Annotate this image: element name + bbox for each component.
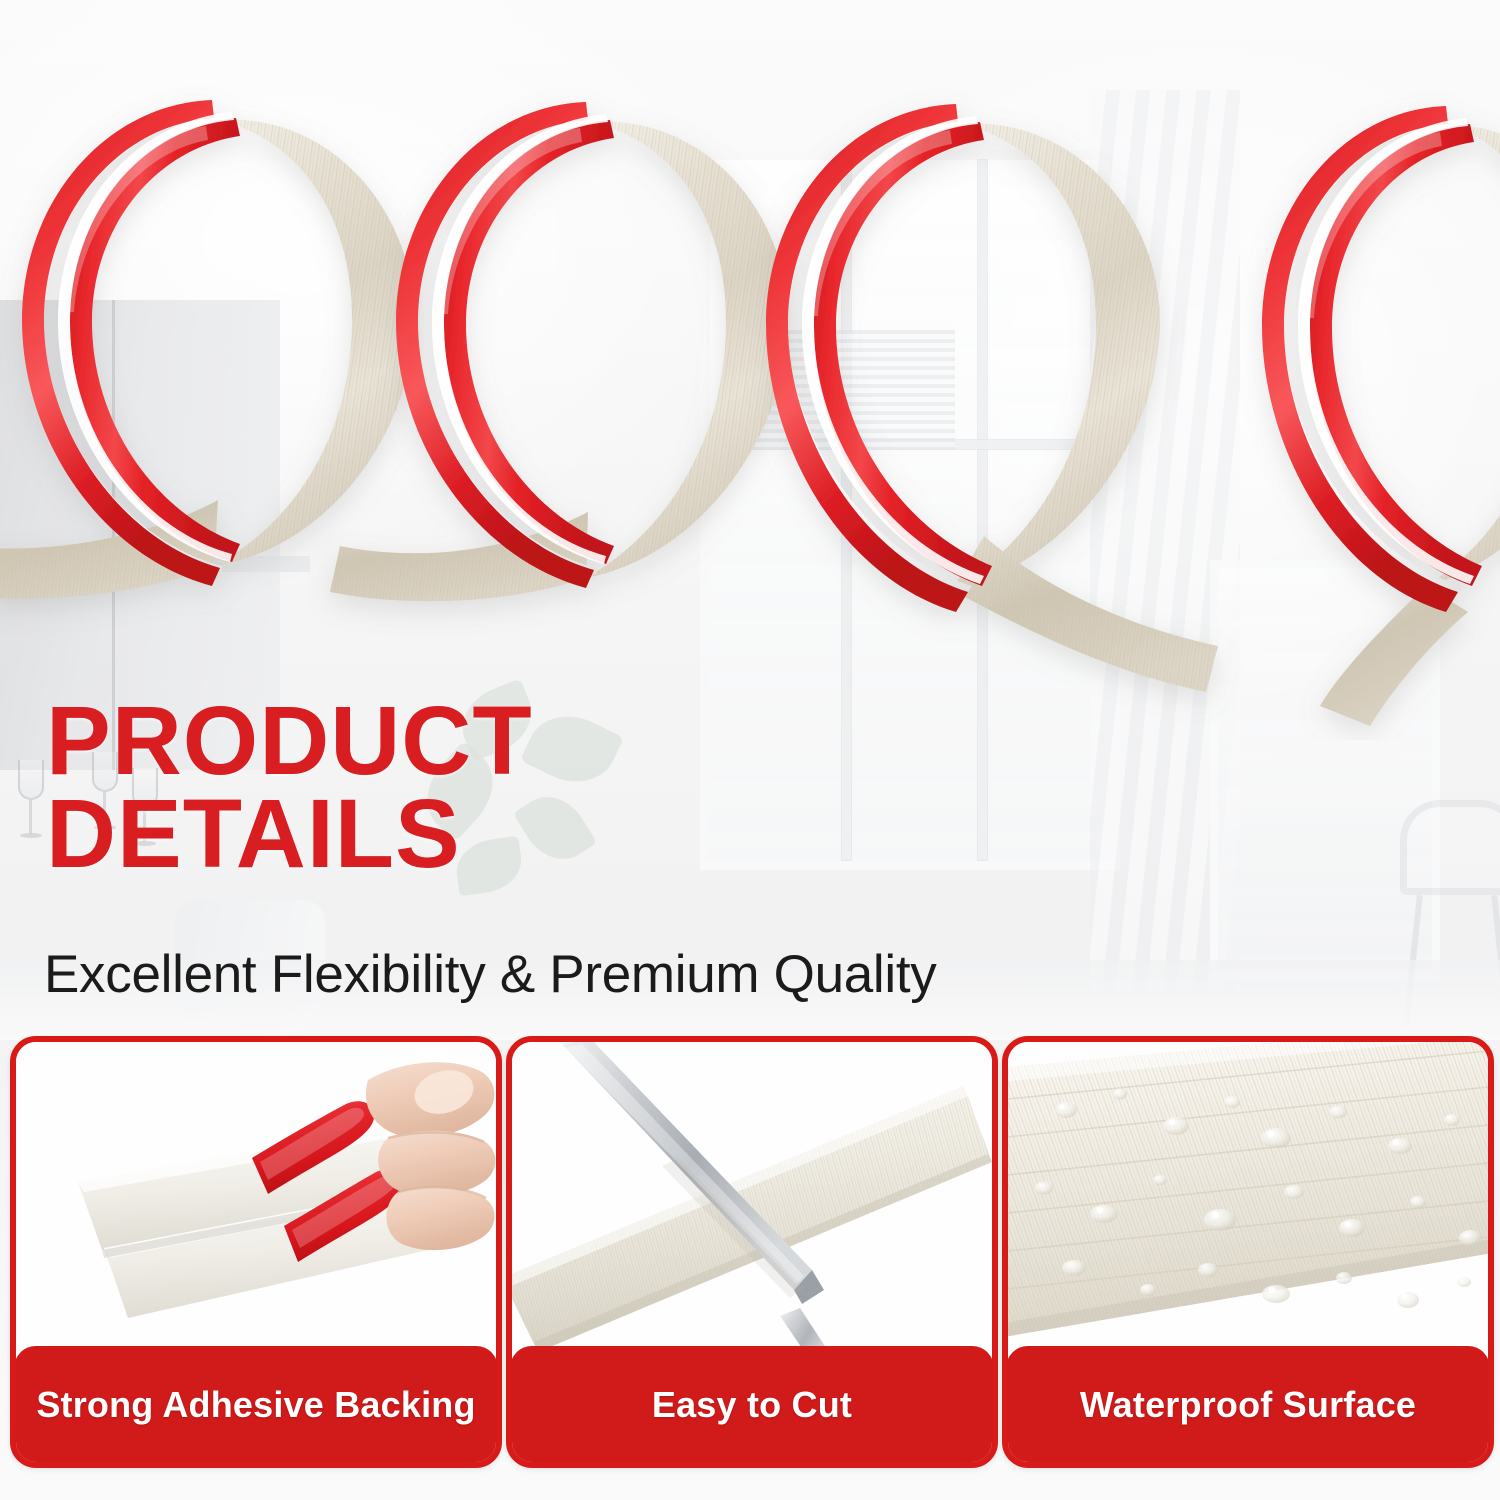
scissors-cutting-banding-image: [512, 1042, 992, 1360]
coil-4: [1262, 106, 1500, 726]
panel-caption-adhesive: Strong Adhesive Backing: [14, 1346, 498, 1464]
coil-1: [0, 100, 414, 599]
coil-3: [766, 104, 1218, 692]
coil-2: [330, 102, 788, 601]
page-subtitle: Excellent Flexibility & Premium Quality: [44, 944, 937, 1005]
headline-line-2: DETAILS: [46, 787, 946, 880]
product-detail-image: PRODUCT DETAILS Excellent Flexibility & …: [0, 0, 1500, 1500]
water-droplets-on-banding-image: [1008, 1042, 1488, 1360]
hero-product-coils: [0, 0, 1500, 740]
hand-peeling-red-adhesive-liner-image: [16, 1042, 496, 1360]
feature-panel-cut[interactable]: Easy to Cut: [506, 1036, 998, 1468]
page-title: PRODUCT DETAILS: [46, 694, 946, 880]
panel-caption-waterproof: Waterproof Surface: [1006, 1346, 1490, 1464]
feature-panel-waterproof[interactable]: Waterproof Surface: [1002, 1036, 1494, 1468]
feature-panel-adhesive[interactable]: Strong Adhesive Backing: [10, 1036, 502, 1468]
wine-glass-icon: [18, 760, 44, 846]
panel-caption-cut: Easy to Cut: [510, 1346, 994, 1464]
feature-panel-row: Strong Adhesive Backing: [0, 1036, 1500, 1476]
